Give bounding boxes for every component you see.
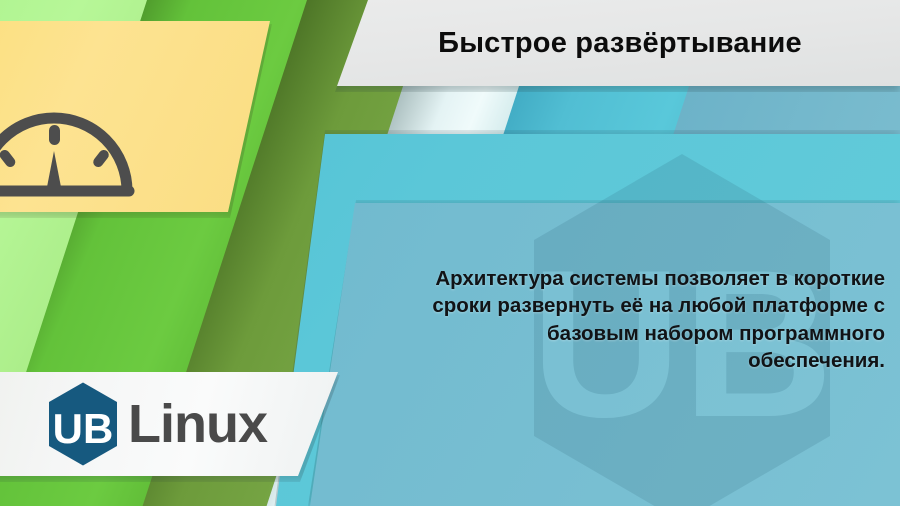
icon-card xyxy=(0,21,270,212)
ublinux-logo: UB Linux xyxy=(40,381,267,467)
page-title: Быстрое развёртывание xyxy=(370,0,870,86)
body-paragraph: Архитектура системы позволяет в короткие… xyxy=(430,265,885,374)
ub-mark-text: UB xyxy=(53,405,114,452)
gauge-icon xyxy=(0,79,140,204)
slide: UB Быстрое развёртывание Архитектура сис… xyxy=(0,0,900,506)
logo-wordmark: Linux xyxy=(128,397,267,451)
ub-hexagon-icon: UB xyxy=(40,381,126,467)
